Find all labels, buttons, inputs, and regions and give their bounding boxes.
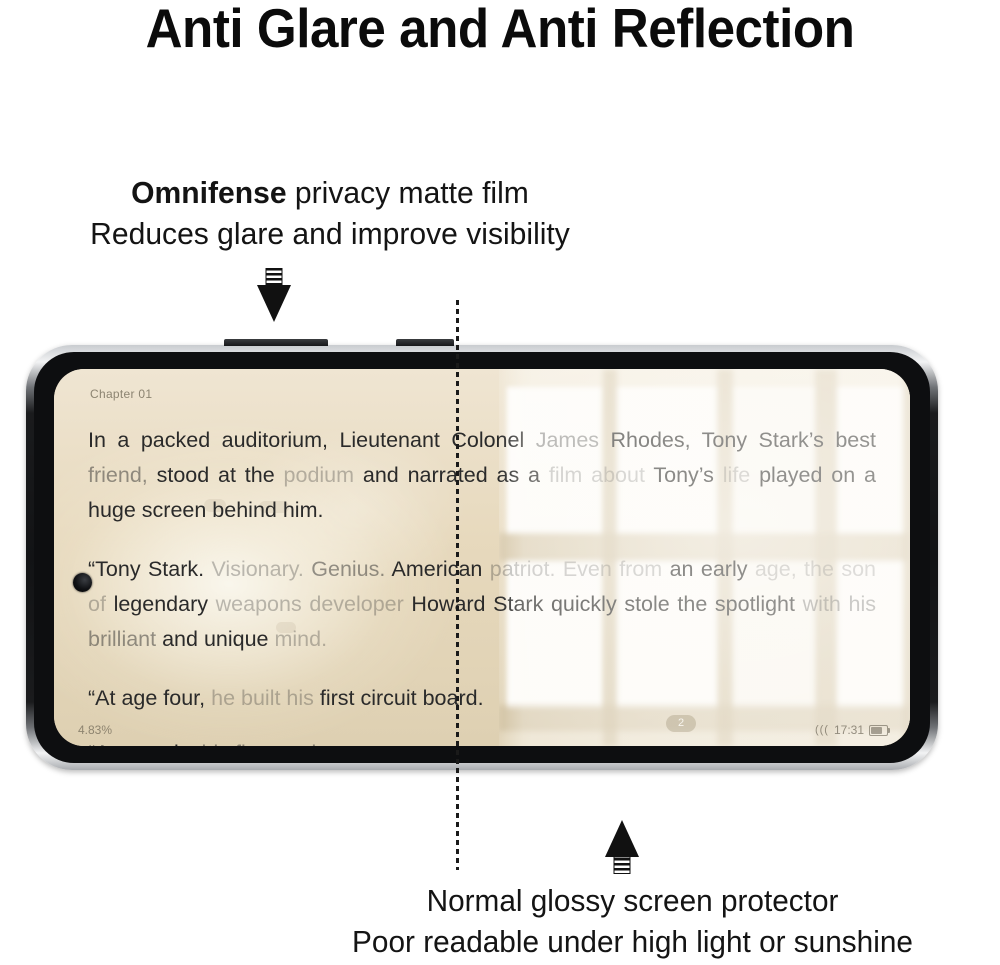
arrow-down-icon — [254, 268, 294, 324]
reader-paragraph-3: “At age four, he built his first circuit… — [80, 681, 884, 716]
split-divider — [456, 300, 459, 870]
chapter-label: Chapter 01 — [90, 387, 884, 401]
reader-status-bar: 4.83% ((( 17:31 — [54, 721, 910, 741]
brand-name: Omnifense — [131, 175, 286, 210]
page-title: Anti Glare and Anti Reflection — [35, 0, 965, 60]
signal-icon: ((( — [815, 724, 829, 736]
matte-caption-line1: Omnifense privacy matte film — [20, 172, 641, 213]
glossy-caption-line1: Normal glossy screen protector — [280, 880, 986, 921]
matte-caption-line1-rest: privacy matte film — [287, 175, 529, 210]
phone-bezel: Chapter 01 In a packed auditorium, Lieut… — [34, 352, 930, 763]
matte-caption-line2: Reduces glare and improve visibility — [20, 213, 641, 254]
reading-progress: 4.83% — [78, 723, 112, 737]
reader-content: Chapter 01 In a packed auditorium, Lieut… — [54, 369, 910, 746]
reader-paragraph-1: In a packed auditorium, Lieutenant Colon… — [80, 423, 884, 528]
reader-paragraph-2: “Tony Stark. Visionary. Genius. American… — [80, 552, 884, 657]
punch-hole-camera-icon — [73, 573, 92, 592]
power-key[interactable] — [396, 339, 454, 346]
glossy-caption: Normal glossy screen protector Poor read… — [280, 880, 986, 962]
phone-screen[interactable]: Chapter 01 In a packed auditorium, Lieut… — [54, 369, 910, 746]
glossy-caption-line2: Poor readable under high light or sunshi… — [280, 921, 986, 962]
status-right-group: ((( 17:31 — [815, 723, 888, 737]
arrow-up-icon — [602, 818, 642, 874]
phone-device: Chapter 01 In a packed auditorium, Lieut… — [26, 345, 938, 770]
volume-key[interactable] — [224, 339, 328, 346]
matte-caption: Omnifense privacy matte film Reduces gla… — [20, 172, 641, 254]
battery-icon — [869, 725, 888, 736]
clock-label: 17:31 — [834, 723, 864, 737]
